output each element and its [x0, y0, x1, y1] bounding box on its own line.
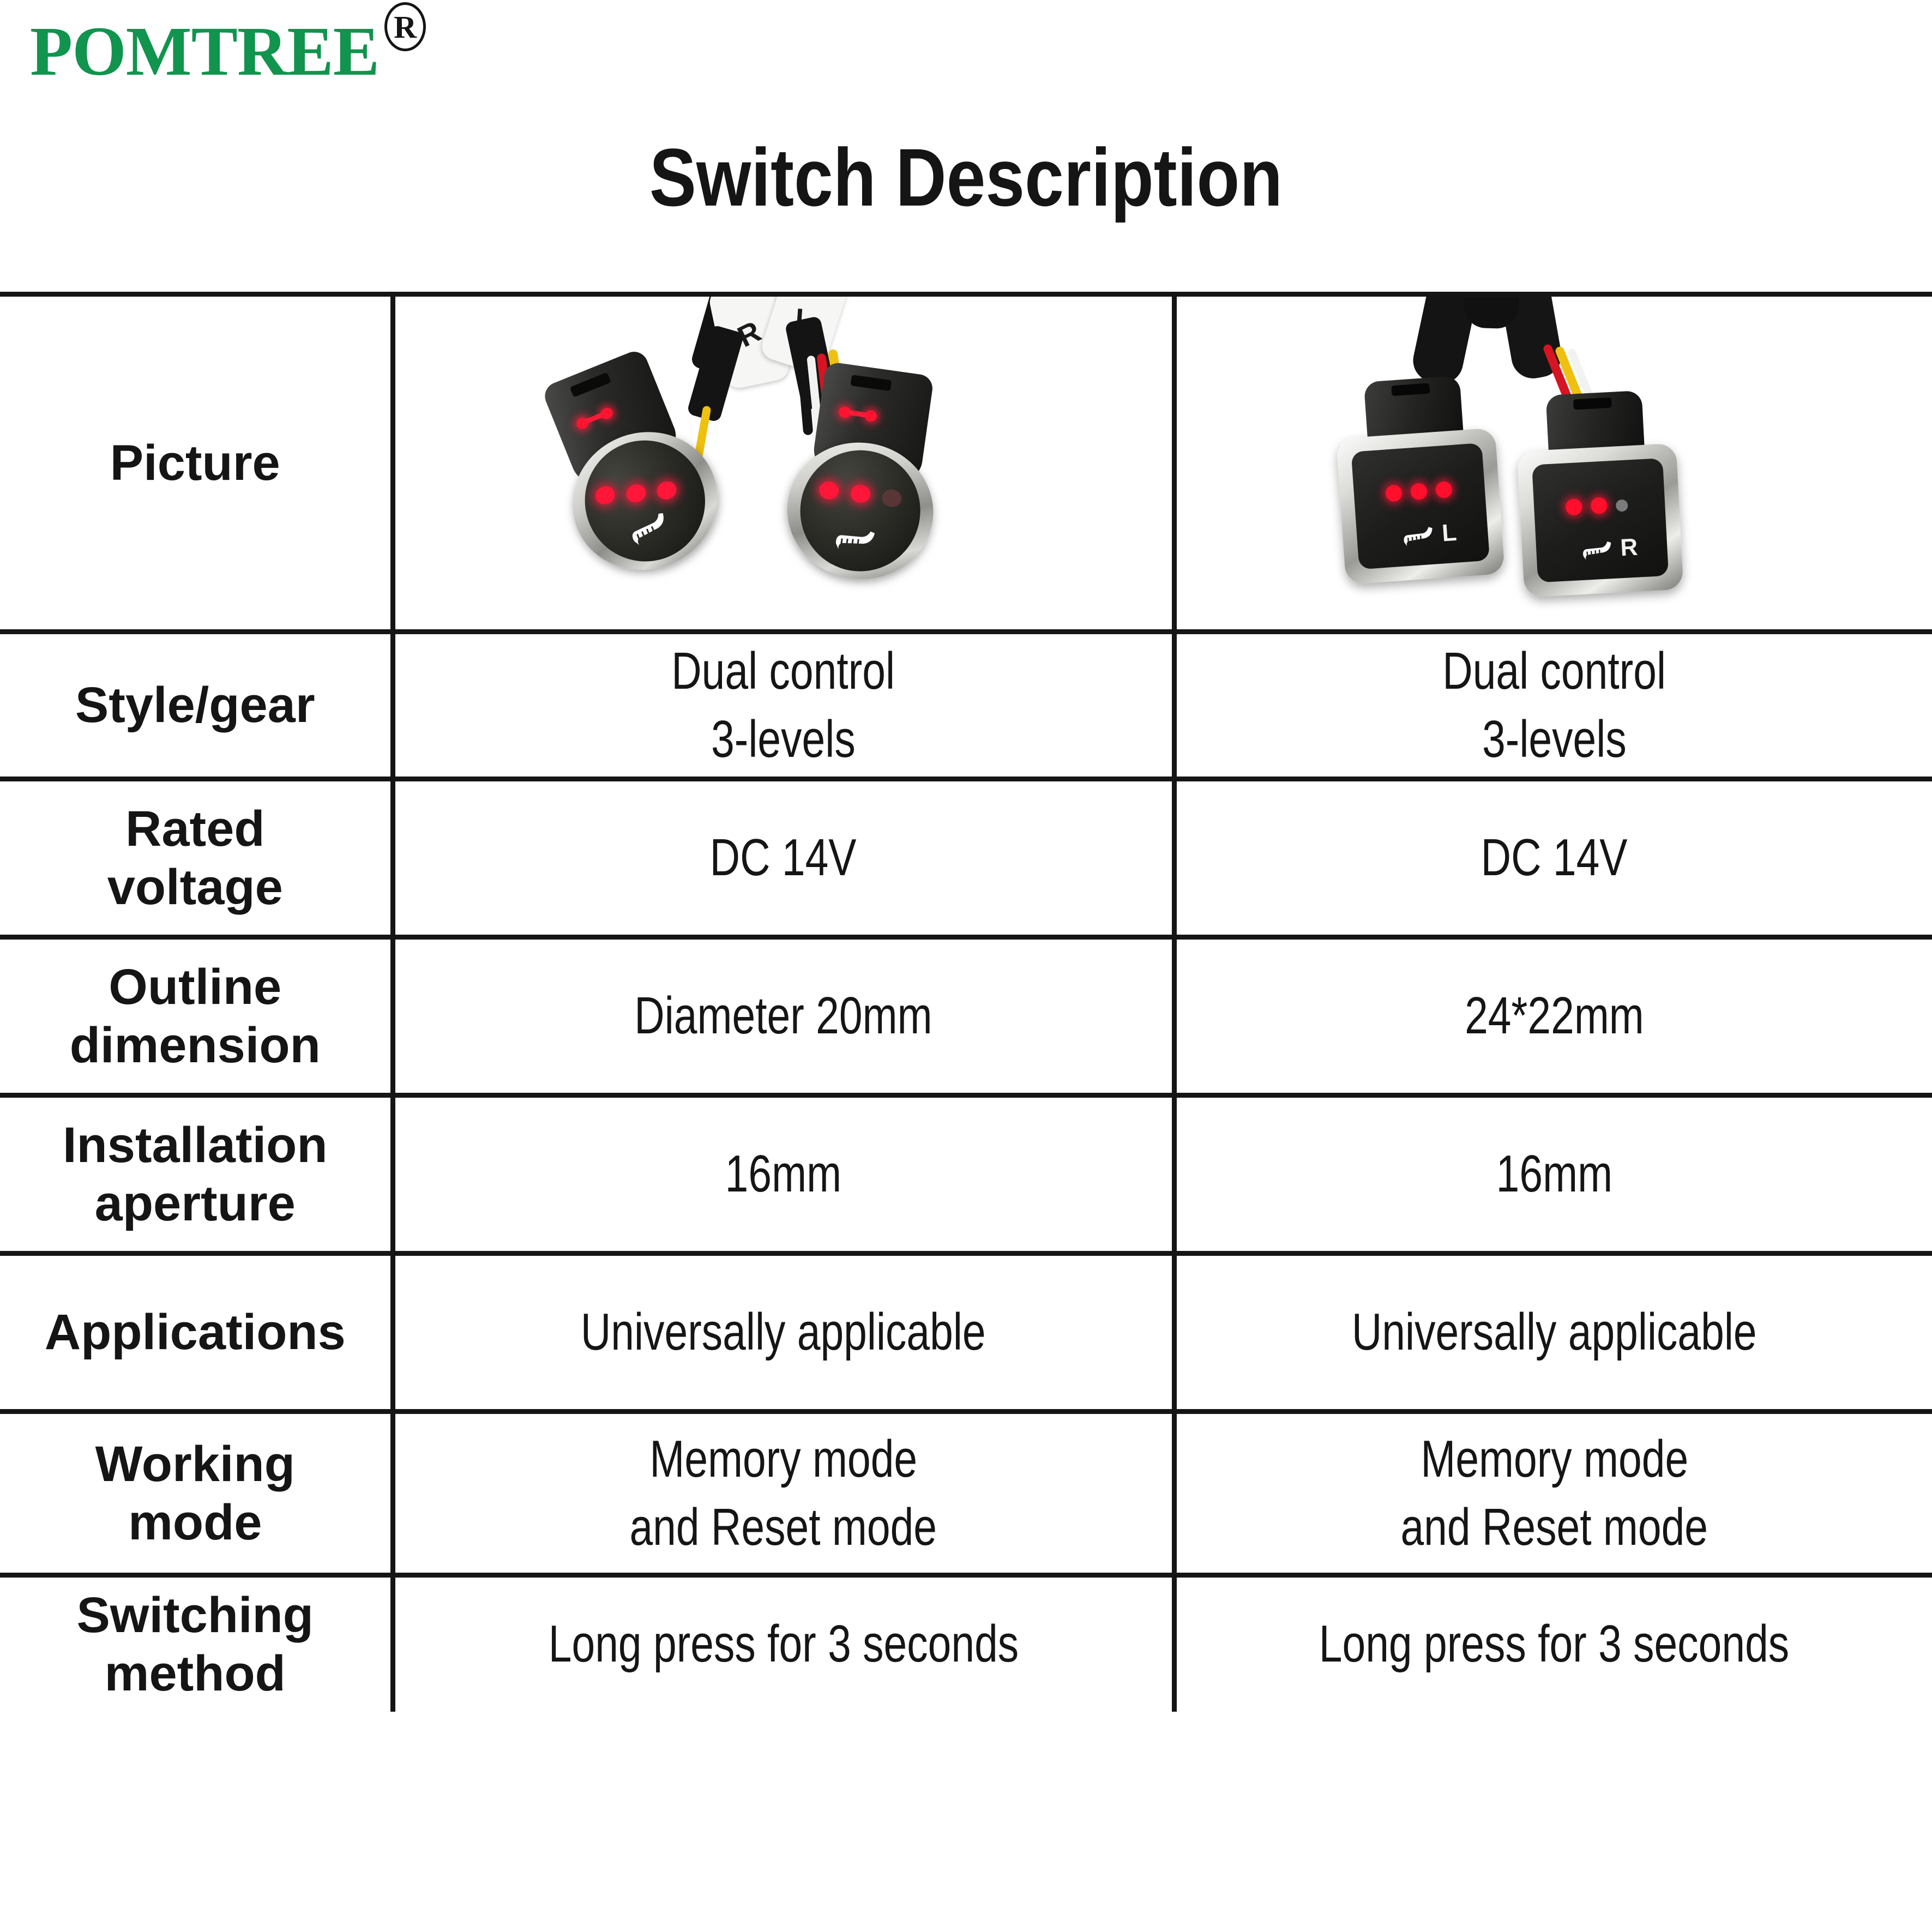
row-label-text: Applications [0, 1303, 390, 1362]
row-label-picture: Picture [0, 294, 393, 632]
seat-heater-icon: R [1578, 529, 1638, 569]
table-row: Picture R L [0, 294, 1932, 632]
row-label-installation-aperture: Installation aperture [0, 1096, 393, 1254]
cell-value: DC 14V [1481, 824, 1628, 892]
cell-value: 16mm [725, 1140, 841, 1208]
round-switch-scene: R L [395, 297, 1172, 629]
cell-value: 24*22mm [1465, 982, 1644, 1050]
table-row: Installation aperture 16mm 16mm [0, 1096, 1932, 1254]
cell-applications-square: Universally applicable [1174, 1254, 1932, 1412]
table-row: Style/gear Dual control 3-levels Dual co… [0, 632, 1932, 779]
led-1-icon [592, 484, 617, 507]
switch-face: L [1351, 443, 1489, 569]
table-row: Rated voltage DC 14V DC 14V [0, 779, 1932, 937]
cell-switching-method-round: Long press for 3 seconds [393, 1575, 1174, 1712]
switch-description-table: Picture R L [0, 292, 1932, 1712]
round-switch-left [547, 400, 739, 591]
cell-installation-aperture-square: 16mm [1174, 1096, 1932, 1254]
led-2-icon [623, 482, 648, 505]
row-label-applications: Applications [0, 1254, 393, 1412]
row-label-text: Style/gear [0, 676, 390, 735]
housing-slot [1573, 398, 1611, 410]
table-row: Outline dimension Diameter 20mm 24*22mm [0, 937, 1932, 1096]
row-label-outline-dimension: Outline dimension [0, 937, 393, 1096]
table-row: Applications Universally applicable Univ… [0, 1254, 1932, 1412]
cell-value-line2: 3-levels [1482, 706, 1627, 774]
row-label-line2: dimension [0, 1016, 390, 1075]
switch-face [792, 443, 928, 579]
cell-value-line2: 3-levels [711, 706, 856, 774]
cell-installation-aperture-round: 16mm [393, 1096, 1174, 1254]
seat-heater-icon: L [1398, 515, 1459, 555]
cell-style-gear-round: Dual control 3-levels [393, 632, 1174, 779]
row-label-text: Picture [0, 434, 390, 492]
row-label-line1: Rated [0, 800, 390, 858]
row-label-line1: Working [0, 1435, 390, 1494]
switch-face: R [1532, 458, 1669, 582]
row-label-line2: voltage [0, 858, 390, 917]
led-2-icon [1590, 497, 1608, 515]
row-label-working-mode: Working mode [0, 1412, 393, 1575]
side-label-L: L [1441, 521, 1457, 546]
led-2-icon [849, 484, 871, 504]
square-switch-left: L [1334, 412, 1509, 587]
cell-style-gear-square: Dual control 3-levels [1174, 632, 1932, 779]
cell-value-line2: and Reset mode [630, 1494, 937, 1562]
square-switch-right: R [1516, 428, 1688, 599]
page-title: Switch Description [135, 136, 1797, 218]
row-label-style-gear: Style/gear [0, 632, 393, 779]
round-switch-photo: R L [395, 297, 1172, 629]
cell-value: 16mm [1496, 1140, 1612, 1208]
registered-trademark-icon: R [384, 2, 426, 51]
seat-heater-glyph [1398, 517, 1441, 553]
cell-rated-voltage-round: DC 14V [393, 779, 1174, 937]
cell-value-line1: Memory mode [649, 1425, 917, 1494]
row-label-line1: Outline [0, 958, 390, 1016]
row-label-line2: mode [0, 1494, 390, 1552]
led-3-icon [1435, 481, 1452, 498]
led-indicator-group [792, 443, 928, 579]
cell-value: Diameter 20mm [634, 982, 932, 1050]
brand-name: POMTREE [30, 16, 379, 86]
row-label-rated-voltage: Rated voltage [0, 779, 393, 937]
square-switch-scene: L [1177, 297, 1932, 629]
square-switch-photo: L [1177, 297, 1932, 629]
table-row: Switching method Long press for 3 second… [0, 1575, 1932, 1712]
led-1-icon [818, 480, 840, 501]
side-label-R: R [1620, 535, 1638, 561]
cell-working-mode-square: Memory mode and Reset mode [1174, 1412, 1932, 1575]
cell-outline-dimension-round: Diameter 20mm [393, 937, 1174, 1096]
cell-value: Universally applicable [1352, 1298, 1757, 1367]
row-label-switching-method: Switching method [0, 1575, 393, 1712]
row-label-line1: Switching [0, 1586, 390, 1645]
seat-heater-glyph [1578, 532, 1618, 567]
led-1-icon [1565, 498, 1582, 516]
row-label-line2: method [0, 1645, 390, 1703]
row-label-line2: aperture [0, 1175, 390, 1233]
cell-value-line1: Dual control [672, 637, 895, 706]
led-3-icon [881, 488, 902, 508]
led-1-icon [1385, 485, 1403, 502]
cell-working-mode-round: Memory mode and Reset mode [393, 1412, 1174, 1575]
cell-value: DC 14V [710, 824, 857, 892]
cell-value-line1: Memory mode [1421, 1425, 1688, 1494]
spec-sheet-page: POMTREE R Switch Description Picture [0, 0, 1932, 1932]
cell-value: Long press for 3 seconds [548, 1610, 1018, 1678]
cell-outline-dimension-square: 24*22mm [1174, 937, 1932, 1096]
cell-value-line2: and Reset mode [1400, 1494, 1708, 1562]
cell-picture-square: L [1174, 294, 1932, 632]
cell-applications-round: Universally applicable [393, 1254, 1174, 1412]
brand-logo: POMTREE R [30, 16, 426, 86]
led-3-icon [1615, 499, 1628, 512]
cell-rated-voltage-square: DC 14V [1174, 779, 1932, 937]
led-3-icon [654, 479, 678, 502]
table-row: Working mode Memory mode and Reset mode … [0, 1412, 1932, 1575]
cell-picture-round: R L [393, 294, 1174, 632]
cell-switching-method-square: Long press for 3 seconds [1174, 1575, 1932, 1712]
cell-value: Long press for 3 seconds [1319, 1610, 1789, 1678]
row-label-line1: Installation [0, 1116, 390, 1175]
led-2-icon [1410, 483, 1427, 500]
round-switch-right [778, 423, 944, 589]
cell-value: Universally applicable [581, 1298, 986, 1367]
cell-value-line1: Dual control [1442, 637, 1666, 706]
